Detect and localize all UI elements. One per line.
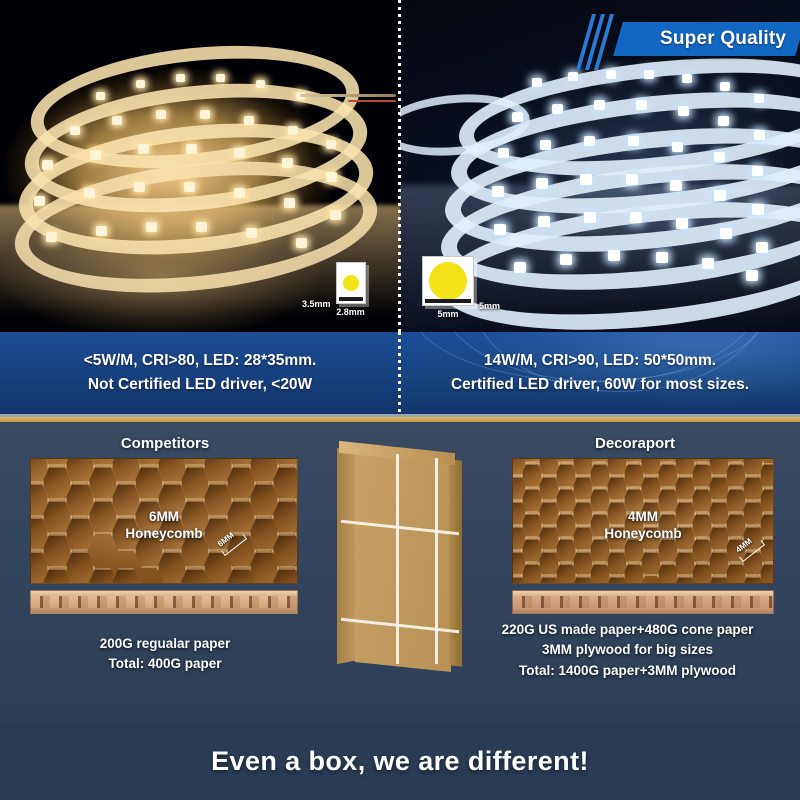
decoraport-caption: 220G US made paper+480G cone paper 3MM p… [455,620,800,681]
competitors-honeycomb-panel: 6MM Honeycomb 6MM [30,458,298,584]
left-spec-block: <5W/M, CRI>80, LED: 28*35mm. Not Certifi… [0,332,400,414]
super-quality-badge: Super Quality [613,22,800,56]
competitors-caption: 200G regualar paper Total: 400G paper [0,634,330,675]
carton-strap-vertical-2 [435,458,438,664]
photo-divider-dotted [398,0,401,332]
right-chip-diagram: 5mm 5mm [422,256,500,319]
decoraport-corrugated-strip [512,590,774,614]
left-chip-graphic [336,262,366,304]
left-product-photo: 3.5mm 2.8mm [0,0,400,332]
infographic-page: 3.5mm 2.8mm [0,0,800,800]
decoraport-caption-line-3: Total: 1400G paper+3MM plywood [455,661,800,681]
left-chip-diagram: 3.5mm 2.8mm [302,262,366,317]
right-spec-line-1: 14W/M, CRI>90, LED: 50*50mm. [484,349,716,373]
packing-carton-illustration [333,444,466,676]
competitors-caption-line-1: 200G regualar paper [0,634,330,654]
decoraport-honeycomb-label: 4MM Honeycomb [513,509,773,543]
super-quality-label: Super Quality [660,28,786,50]
right-chip-height-label: 5mm [479,301,500,311]
decoraport-caption-line-2: 3MM plywood for big sizes [455,640,800,660]
right-product-photo: Super Quality 5mm 5mm [400,0,800,332]
competitors-corrugated-strip [30,590,298,614]
decoraport-title: Decoraport [470,435,800,452]
left-chip-width-label: 2.8mm [336,307,365,317]
competitors-honeycomb-label: 6MM Honeycomb [31,509,297,543]
competitors-caption-line-2: Total: 400G paper [0,654,330,674]
competitors-honeycomb-word: Honeycomb [125,526,202,541]
left-chip-height-label: 3.5mm [302,299,331,309]
decoraport-honeycomb-panel: 4MM Honeycomb 4MM [512,458,774,584]
competitors-honeycomb-size: 6MM [149,509,179,524]
spec-divider-dotted [398,332,401,414]
footer-banner: Even a box, we are different! [0,722,800,800]
right-spec-block: 14W/M, CRI>90, LED: 50*50mm. Certified L… [400,332,800,414]
footer-headline: Even a box, we are different! [211,746,589,777]
decoraport-honeycomb-word: Honeycomb [604,526,681,541]
decoraport-caption-line-1: 220G US made paper+480G cone paper [455,620,800,640]
left-spec-line-1: <5W/M, CRI>80, LED: 28*35mm. [84,349,317,373]
right-spec-line-2: Certified LED driver, 60W for most sizes… [451,373,749,397]
competitors-title: Competitors [0,435,330,452]
right-chip-width-label: 5mm [437,309,458,319]
right-chip-graphic [422,256,474,306]
section-divider [0,414,800,422]
carton-strap-vertical-1 [396,454,399,664]
decoraport-honeycomb-size: 4MM [628,509,658,524]
carton-back-edge [449,459,462,666]
left-spec-line-2: Not Certified LED driver, <20W [88,373,312,397]
